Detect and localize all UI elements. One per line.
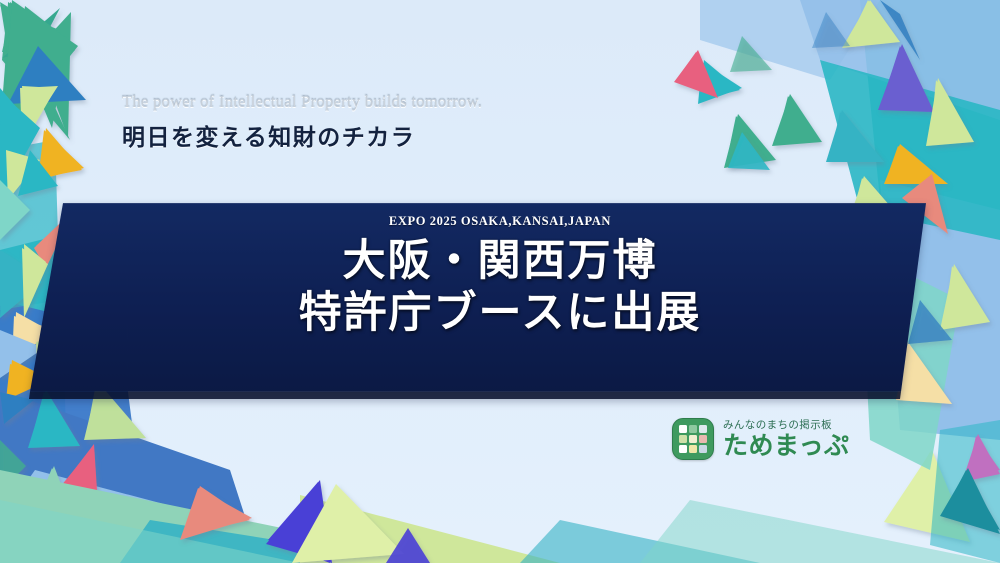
bulletin-board-icon: [672, 418, 714, 460]
tagline-japanese: 明日を変える知財のチカラ: [122, 118, 482, 152]
tamemap-logo[interactable]: みんなのまちの掲示板 ためまっぷ: [672, 418, 850, 460]
banner-content: EXPO 2025 OSAKA,KANSAI,JAPAN 大阪・関西万博 特許庁…: [0, 196, 1000, 401]
logo-tile: [689, 435, 697, 443]
logo-tile: [699, 445, 707, 453]
logo-tile: [699, 435, 707, 443]
logo-tile: [679, 445, 687, 453]
logo-text: みんなのまちの掲示板 ためまっぷ: [723, 420, 850, 459]
banner-title-line2: 特許庁ブースに出展: [299, 287, 702, 339]
logo-name: ためまっぷ: [723, 433, 850, 458]
logo-subtitle: みんなのまちの掲示板: [723, 420, 850, 431]
logo-tile: [679, 425, 687, 433]
banner-title: 大阪・関西万博 特許庁ブースに出展: [299, 235, 702, 340]
banner-eyebrow: EXPO 2025 OSAKA,KANSAI,JAPAN: [389, 214, 611, 229]
logo-tile: [689, 445, 697, 453]
banner-title-line1: 大阪・関西万博: [342, 236, 657, 286]
poster-canvas: The power of Intellectual Property build…: [0, 0, 1000, 563]
headline-banner: EXPO 2025 OSAKA,KANSAI,JAPAN 大阪・関西万博 特許庁…: [0, 196, 1000, 401]
tagline-english: The power of Intellectual Property build…: [122, 92, 482, 112]
logo-tile: [689, 425, 697, 433]
logo-tile: [699, 425, 707, 433]
logo-tile: [679, 435, 687, 443]
tagline-block: The power of Intellectual Property build…: [122, 92, 482, 152]
